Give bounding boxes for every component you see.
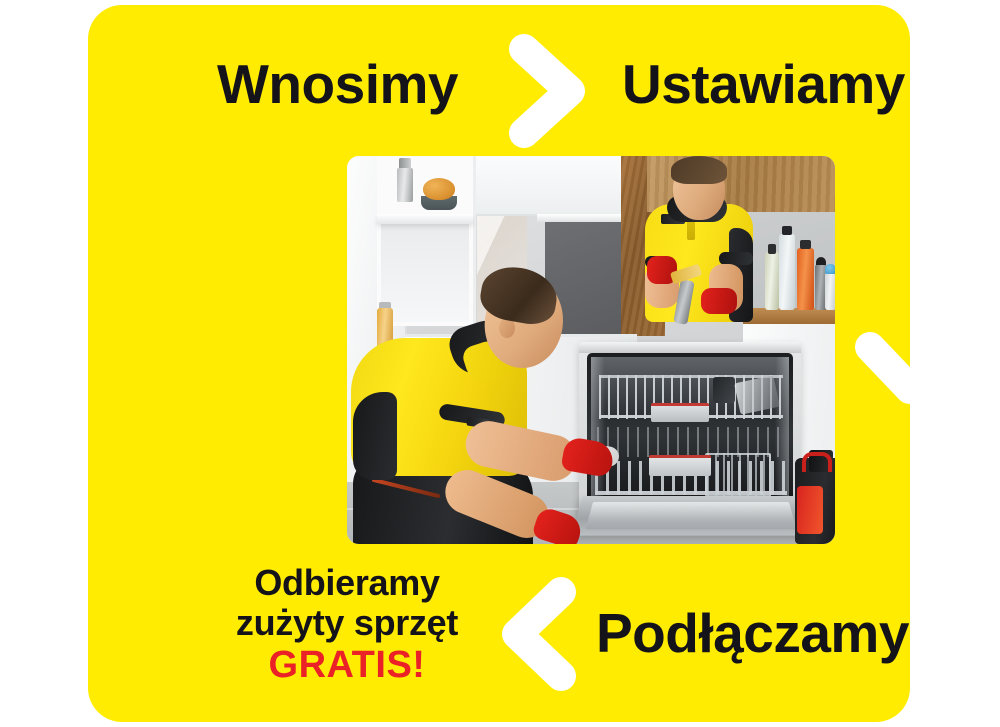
open-shelf-interior (381, 222, 469, 322)
salt-grinder (825, 272, 835, 310)
dishwasher-top-edge (579, 342, 801, 353)
photo-scene (347, 156, 835, 544)
upper-cabinet-edge (537, 214, 633, 222)
shelf-plank (377, 214, 473, 224)
shelf-metal-jar (397, 168, 413, 202)
chevron-left-icon (499, 576, 581, 692)
dark-dish (713, 377, 735, 403)
step-label-ustawiamy: Ustawiamy (622, 57, 905, 112)
step-label-wnosimy: Wnosimy (217, 57, 458, 112)
step-label-odbieramy: Odbieramy (202, 563, 492, 603)
chevron-down-icon (854, 331, 910, 413)
juice-bottle-cap (800, 240, 811, 249)
dishwasher-cavity (587, 353, 793, 503)
water-bottle-cap (782, 226, 792, 235)
oil-bottle-cap (768, 244, 776, 254)
tool-bag-handle (802, 452, 832, 472)
shelf-bread (423, 178, 455, 200)
kneeling-technician-shirt-panel (353, 392, 397, 480)
upper-tray (651, 403, 709, 422)
salt-grinder-cap (825, 264, 835, 274)
dishwasher-door-inner (585, 502, 796, 529)
upper-cabinet (473, 156, 633, 216)
tool-bag-red-panel (797, 486, 823, 534)
cutlery-basket (705, 453, 771, 497)
chevron-right-icon (508, 33, 590, 149)
standing-technician-glove-right (701, 288, 737, 314)
wood-countertop (743, 308, 835, 324)
step-label-podlaczamy: Podłączamy (596, 606, 909, 661)
standing-technician-hair (671, 156, 727, 184)
lower-tray (649, 455, 711, 476)
pepper-grinder-cap (816, 257, 826, 265)
installation-photo (347, 156, 835, 544)
promo-panel: Wnosimy Ustawiamy (88, 5, 910, 722)
juice-bottle (797, 248, 814, 310)
oil-bottle (765, 252, 779, 310)
water-bottle (779, 234, 795, 310)
pickup-block: Odbieramy zużyty sprzęt GRATIS! (202, 563, 492, 686)
step-label-gratis: GRATIS! (202, 644, 492, 687)
step-label-zuzyty-sprzet: zużyty sprzęt (202, 603, 492, 643)
